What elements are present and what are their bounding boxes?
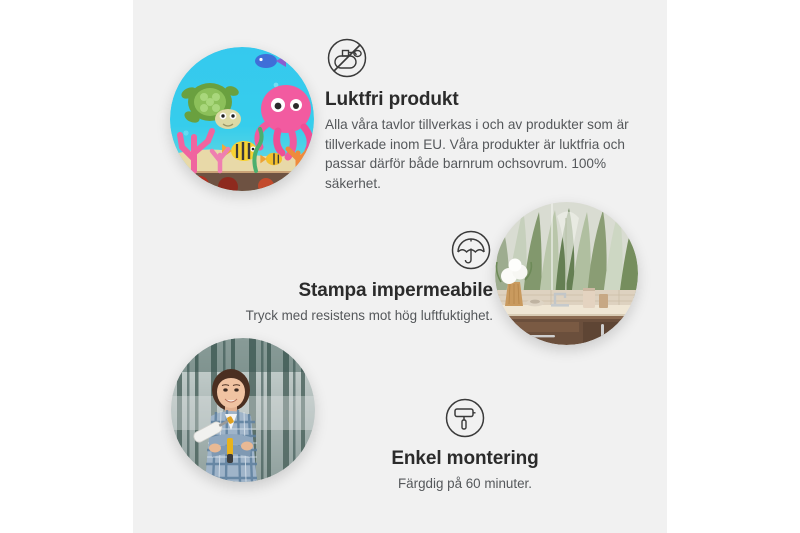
poster-canvas: Luktfri produkt Alla våra tavlor tillver…	[133, 0, 667, 533]
no-fragrance-spray-icon	[325, 36, 369, 80]
feature-assembly-body: Färgdig på 60 minuter.	[329, 474, 601, 494]
feature-waterproof-body: Tryck med resistens mot hög luftfuktighe…	[188, 306, 493, 326]
photo-painter-woman	[171, 338, 315, 482]
photo-bathroom-interior	[495, 202, 638, 345]
umbrella-icon	[449, 228, 493, 272]
feature-easy-assembly: Enkel montering Färgdig på 60 minuter.	[329, 396, 601, 494]
photo-underwater-scene	[170, 47, 314, 191]
feature-waterproof-print: Stampa impermeabile Tryck med resistens …	[188, 228, 493, 326]
product-feature-poster: Luktfri produkt Alla våra tavlor tillver…	[0, 0, 800, 533]
feature-odourless-product: Luktfri produkt Alla våra tavlor tillver…	[325, 36, 637, 193]
feature-odourless-body: Alla våra tavlor tillverkas i och av pro…	[325, 115, 637, 193]
feature-odourless-title: Luktfri produkt	[325, 89, 637, 111]
paint-roller-icon	[443, 396, 487, 440]
feature-waterproof-title: Stampa impermeabile	[188, 280, 493, 302]
feature-assembly-title: Enkel montering	[329, 448, 601, 470]
